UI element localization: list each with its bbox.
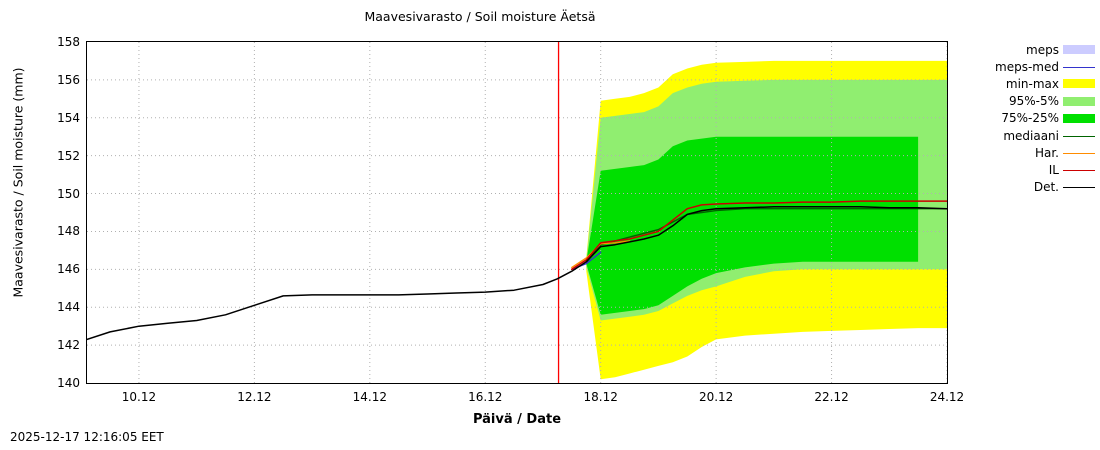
legend-swatch-mark [1063, 79, 1095, 88]
legend-swatch-mark [1063, 170, 1095, 171]
legend-item: 75%-25% [960, 110, 1095, 127]
legend-item: 95%-5% [960, 93, 1095, 110]
y-tick-label: 140 [36, 377, 80, 389]
legend-label: min-max [1006, 77, 1059, 91]
legend-swatch-mark [1063, 136, 1095, 137]
chart-legend: mepsmeps-medmin-max95%-5%75%-25%mediaani… [960, 41, 1095, 196]
legend-swatch [1063, 96, 1095, 107]
y-axis-label: Maavesivarasto / Soil moisture (mm) [11, 13, 26, 353]
y-tick-label: 150 [36, 188, 80, 200]
x-tick-label: 22.12 [802, 390, 862, 404]
legend-item: Det. [960, 179, 1095, 196]
legend-swatch [1063, 61, 1095, 72]
legend-item: meps-med [960, 58, 1095, 75]
legend-swatch-mark [1063, 153, 1095, 154]
y-tick-label: 146 [36, 263, 80, 275]
x-axis-label: Päivä / Date [86, 412, 948, 427]
legend-swatch [1063, 44, 1095, 55]
x-tick-label: 24.12 [917, 390, 977, 404]
legend-swatch [1063, 182, 1095, 193]
x-tick-label: 20.12 [686, 390, 746, 404]
legend-label: 95%-5% [1009, 94, 1059, 108]
x-tick-label: 10.12 [109, 390, 169, 404]
legend-swatch-mark [1063, 114, 1095, 123]
legend-label: Har. [1035, 146, 1059, 160]
legend-swatch [1063, 130, 1095, 141]
timestamp-label: 2025-12-17 12:16:05 EET [10, 430, 164, 444]
legend-item: Har. [960, 144, 1095, 161]
y-tick-label: 158 [36, 36, 80, 48]
y-tick-label: 142 [36, 339, 80, 351]
legend-swatch [1063, 164, 1095, 175]
x-tick-label: 14.12 [340, 390, 400, 404]
legend-item: mediaani [960, 127, 1095, 144]
y-tick-label: 154 [36, 112, 80, 124]
chart-title: Maavesivarasto / Soil moisture Äetsä [0, 9, 960, 24]
legend-swatch-mark [1063, 67, 1095, 68]
x-tick-label: 18.12 [571, 390, 631, 404]
legend-swatch [1063, 113, 1095, 124]
legend-label: IL [1049, 163, 1059, 177]
y-tick-label: 144 [36, 301, 80, 313]
y-tick-label: 152 [36, 150, 80, 162]
legend-swatch-mark [1063, 97, 1095, 106]
legend-swatch [1063, 78, 1095, 89]
legend-label: 75%-25% [1001, 111, 1059, 125]
legend-swatch-mark [1063, 187, 1095, 188]
chart-page: Maavesivarasto / Soil moisture Äetsä Maa… [0, 0, 1100, 450]
y-tick-label: 148 [36, 225, 80, 237]
legend-label: mediaani [1003, 129, 1059, 143]
legend-label: Det. [1034, 180, 1059, 194]
legend-item: min-max [960, 75, 1095, 92]
legend-label: meps [1026, 43, 1059, 57]
legend-label: meps-med [995, 60, 1059, 74]
legend-swatch [1063, 147, 1095, 158]
legend-item: IL [960, 161, 1095, 178]
x-tick-label: 12.12 [224, 390, 284, 404]
y-tick-label: 156 [36, 74, 80, 86]
legend-item: meps [960, 41, 1095, 58]
x-tick-label: 16.12 [455, 390, 515, 404]
plot-area [86, 41, 948, 384]
plot-svg [87, 42, 947, 383]
legend-swatch-mark [1063, 45, 1095, 54]
